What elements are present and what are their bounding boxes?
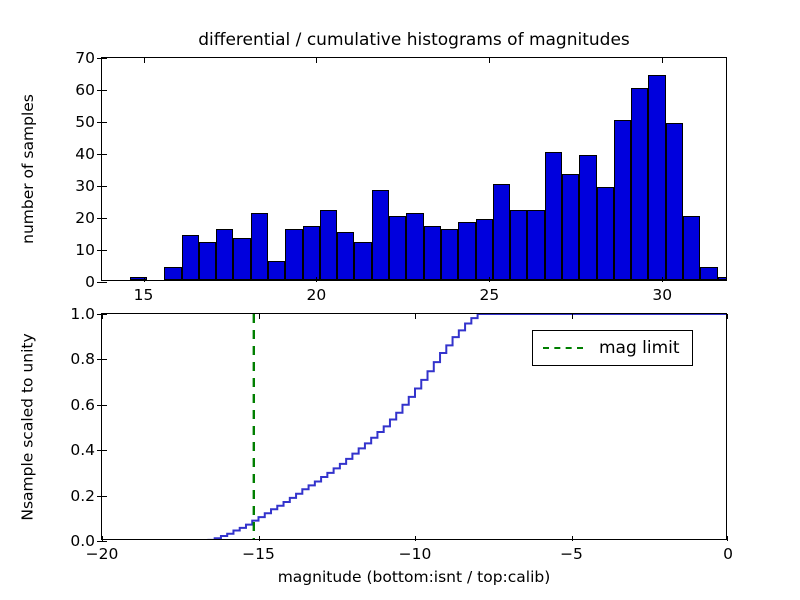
bottom-axis-x-ticklabel: 0: [723, 545, 733, 563]
top-axis-y-ticklabel: 20: [75, 209, 95, 227]
bottom-axis-x-tick-top: [572, 314, 573, 319]
bottom-axis-y-tick-inner: [102, 405, 107, 406]
legend-label: mag limit: [599, 338, 680, 358]
histogram-plot-area: [102, 58, 726, 280]
histogram-bar: [441, 229, 458, 280]
bottom-axis-y-ticklabel: 1.0: [70, 305, 95, 323]
cumulative-histogram-axes: 0.00.20.40.60.81.0 −20−15−10−50 mag limi…: [101, 313, 727, 540]
histogram-bar: [476, 219, 493, 280]
bottom-axis-ylabel-container: Nsample scaled to unity: [18, 313, 38, 540]
top-axis-x-ticklabel: 25: [479, 286, 499, 304]
top-axis-x-tick-top: [144, 58, 145, 63]
top-axis-x-tick-bottom: [662, 277, 663, 282]
histogram-bar: [320, 210, 337, 280]
top-axis-y-tick-inner: [102, 250, 107, 251]
differential-histogram-axes: 010203040506070 15202530: [101, 57, 727, 281]
histogram-bar: [597, 187, 614, 280]
histogram-bar: [389, 216, 406, 280]
legend-box[interactable]: mag limit: [532, 330, 693, 366]
histogram-bar: [285, 229, 302, 280]
histogram-bar: [545, 152, 562, 280]
mag-limit-legend-swatch-icon: [543, 347, 583, 349]
histogram-bar: [683, 216, 700, 280]
top-axis-x-ticklabel: 30: [652, 286, 672, 304]
top-axis-y-ticklabel: 0: [85, 273, 95, 291]
histogram-bar: [199, 242, 216, 280]
bottom-axis-y-ticklabel: 0.6: [70, 396, 95, 414]
histogram-bar: [372, 190, 389, 280]
histogram-bar: [700, 267, 717, 280]
top-axis-x-ticklabel: 15: [134, 286, 154, 304]
histogram-bar: [614, 120, 631, 280]
top-axis-y-tick-inner: [102, 282, 107, 283]
top-axis-y-ticklabel: 10: [75, 241, 95, 259]
bottom-axis-ylabel: Nsample scaled to unity: [19, 333, 37, 520]
bottom-axis-x-ticklabel: −10: [399, 545, 432, 563]
histogram-bar: [493, 184, 510, 280]
histogram-bar: [251, 213, 268, 280]
top-axis-x-tick-bottom: [144, 277, 145, 282]
top-axis-x-tick-top: [316, 58, 317, 63]
bottom-axis-x-tick-top: [102, 314, 103, 319]
top-axis-x-ticklabel: 20: [307, 286, 327, 304]
top-axis-y-tick-inner: [102, 186, 107, 187]
top-axis-x-tick-bottom: [316, 277, 317, 282]
histogram-bar: [424, 226, 441, 280]
top-axis-x-tick-top: [662, 58, 663, 63]
bottom-axis-x-tick-bottom: [102, 536, 103, 541]
histogram-bar: [718, 277, 726, 280]
bottom-axis-y-ticklabel: 0.8: [70, 350, 95, 368]
top-axis-y-tick-inner: [102, 90, 107, 91]
bottom-axis-x-tick-bottom: [259, 536, 260, 541]
histogram-bar: [233, 238, 250, 280]
bottom-axis-x-ticklabel: −20: [86, 545, 119, 563]
bottom-axis-y-tick-inner: [102, 450, 107, 451]
top-axis-y-ticklabel: 50: [75, 113, 95, 131]
bottom-axis-x-tick-bottom: [572, 536, 573, 541]
histogram-bar: [303, 226, 320, 280]
bottom-axis-y-ticklabel: 0.4: [70, 441, 95, 459]
histogram-bar: [510, 210, 527, 280]
histogram-bar: [354, 242, 371, 280]
top-axis-y-tick-inner: [102, 154, 107, 155]
histogram-bar: [406, 213, 423, 280]
matplotlib-figure: differential / cumulative histograms of …: [0, 0, 800, 600]
histogram-bar: [182, 235, 199, 280]
bottom-axis-y-tick-inner: [102, 541, 107, 542]
bottom-axis-x-tick-top: [415, 314, 416, 319]
top-axis-y-ticklabel: 40: [75, 145, 95, 163]
top-axis-y-ticklabel: 60: [75, 81, 95, 99]
bottom-axis-x-ticklabel: −5: [560, 545, 583, 563]
histogram-bar: [579, 155, 596, 280]
top-axis-y-tick-inner: [102, 218, 107, 219]
bottom-axis-x-tick-bottom: [727, 536, 728, 541]
histogram-bar: [164, 267, 181, 280]
top-axis-ylabel: number of samples: [19, 94, 37, 244]
bottom-axis-xlabel: magnitude (bottom:isnt / top:calib): [101, 568, 727, 586]
histogram-bar: [337, 232, 354, 280]
histogram-bar: [216, 229, 233, 280]
bottom-axis-y-tick-inner: [102, 359, 107, 360]
histogram-bar: [562, 174, 579, 280]
histogram-bar: [666, 123, 683, 280]
histogram-bar: [527, 210, 544, 280]
top-axis-ylabel-container: number of samples: [18, 57, 38, 281]
top-axis-y-ticklabel: 70: [75, 49, 95, 67]
top-axis-y-tick-inner: [102, 122, 107, 123]
histogram-bar: [631, 88, 648, 280]
top-axis-x-tick-top: [489, 58, 490, 63]
bottom-axis-x-ticklabel: −15: [242, 545, 275, 563]
histogram-bar: [458, 222, 475, 280]
bottom-axis-y-tick-inner: [102, 496, 107, 497]
top-axis-y-tick-inner: [102, 58, 107, 59]
bottom-axis-y-ticklabel: 0.2: [70, 487, 95, 505]
top-axis-y-ticklabel: 30: [75, 177, 95, 195]
bottom-axis-x-tick-top: [727, 314, 728, 319]
top-axis-x-tick-bottom: [489, 277, 490, 282]
histogram-bar: [268, 261, 285, 280]
bottom-axis-x-tick-bottom: [415, 536, 416, 541]
bottom-axis-x-tick-top: [259, 314, 260, 319]
histogram-bar: [648, 75, 665, 280]
figure-title: differential / cumulative histograms of …: [101, 30, 727, 50]
